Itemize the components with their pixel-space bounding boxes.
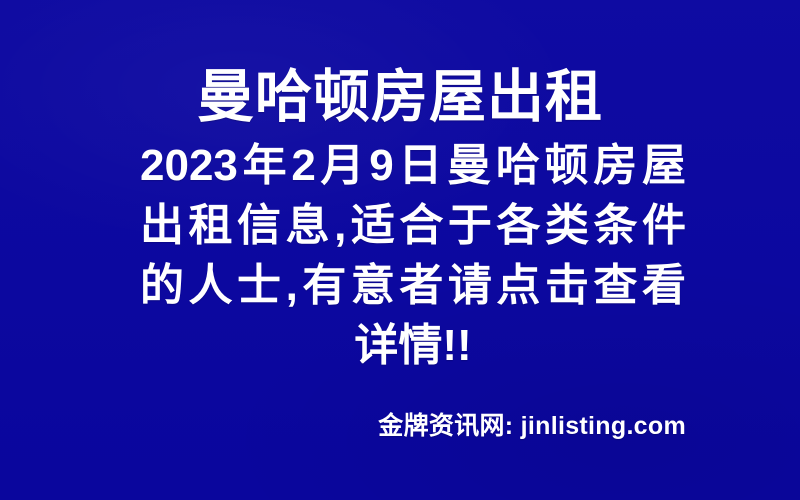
page-title: 曼哈顿房屋出租 [197, 64, 603, 131]
body-line-3: 的人士,有意者请点击查看 [140, 256, 686, 316]
poster-canvas: 曼哈顿房屋出租 2023年2月9日曼哈顿房屋 出租信息,适合于各类条件 的人士,… [0, 0, 800, 500]
body-line-1: 2023年2月9日曼哈顿房屋 [140, 136, 686, 196]
body-line-2: 出租信息,适合于各类条件 [140, 196, 686, 256]
poster-body-block: 2023年2月9日曼哈顿房屋 出租信息,适合于各类条件 的人士,有意者请点击查看… [140, 136, 686, 376]
body-line-4: 详情!! [140, 316, 686, 376]
poster-footer-block: 金牌资讯网: jinlisting.com [140, 410, 686, 442]
source-attribution: 金牌资讯网: jinlisting.com [378, 410, 686, 442]
